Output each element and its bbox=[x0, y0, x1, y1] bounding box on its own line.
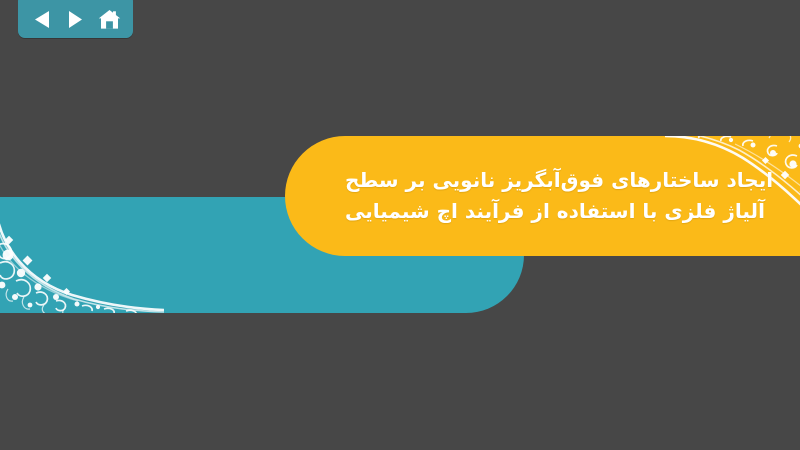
title-line-2: آلیاژ فلزی با استفاده از فرآیند اچ شیمیا… bbox=[345, 196, 765, 227]
title-line-1: ایجاد ساختارهای فوق‌آبگریز نانویی بر سطح bbox=[345, 165, 773, 196]
next-button[interactable] bbox=[63, 7, 89, 31]
triangle-right-icon bbox=[68, 10, 83, 29]
presentation-slide: ایجاد ساختارهای فوق‌آبگریز نانویی بر سطح… bbox=[0, 0, 800, 450]
previous-button[interactable] bbox=[29, 7, 55, 31]
home-icon bbox=[98, 9, 121, 30]
arabesque-ornament-teal bbox=[0, 197, 164, 313]
home-button[interactable] bbox=[96, 7, 122, 31]
title-panel: ایجاد ساختارهای فوق‌آبگریز نانویی بر سطح… bbox=[285, 136, 800, 256]
navigation-bar bbox=[18, 0, 133, 38]
triangle-left-icon bbox=[34, 10, 51, 29]
